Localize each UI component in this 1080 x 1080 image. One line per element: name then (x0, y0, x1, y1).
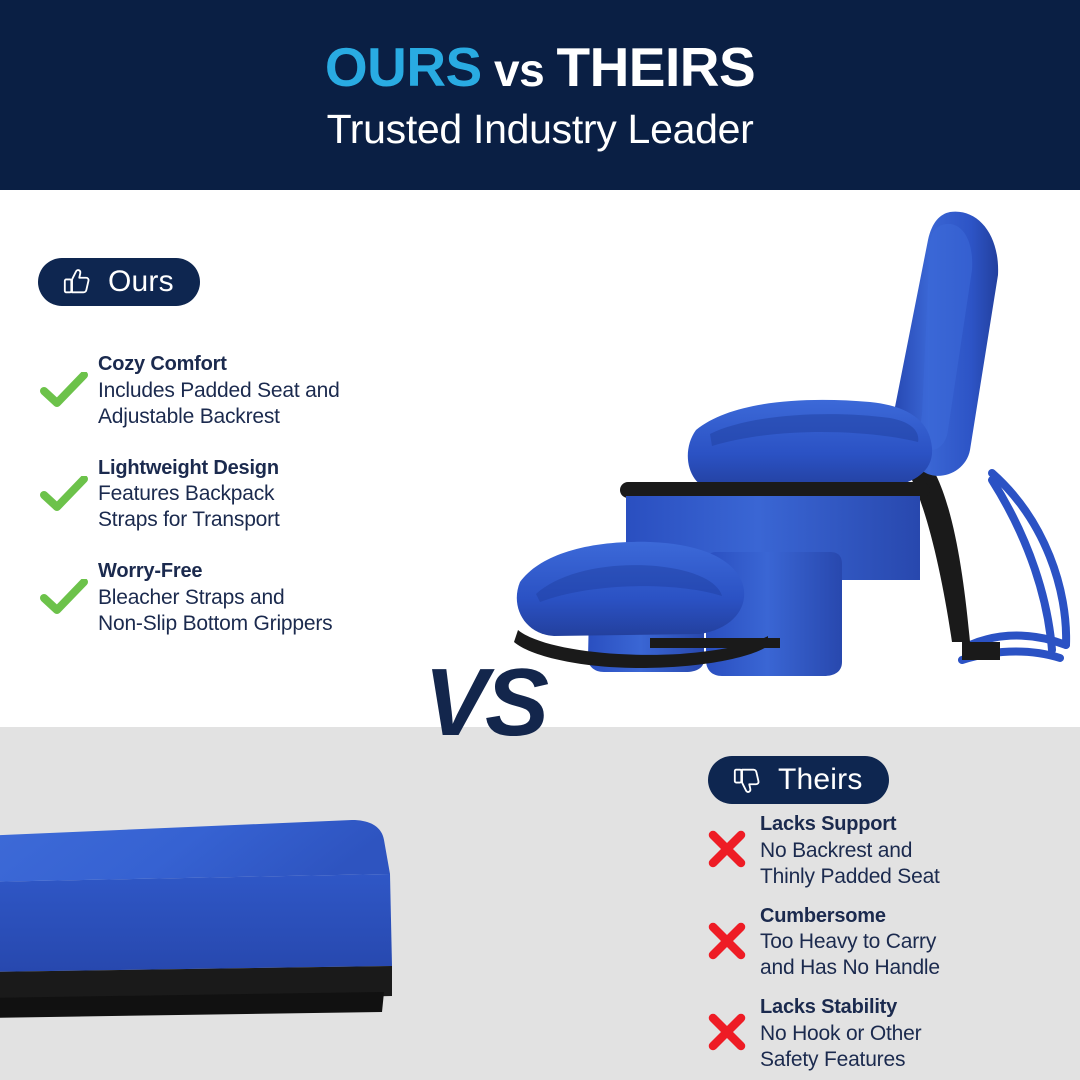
feature-desc-line-1: Includes Padded Seat and (98, 379, 340, 402)
check-icon (36, 476, 92, 514)
feature-desc-line-2: Straps for Transport (98, 508, 280, 531)
list-item: Lacks Support No Backrest and Thinly Pad… (700, 812, 1060, 890)
ours-badge: Ours (38, 258, 200, 306)
title-ours: OURS (325, 36, 482, 98)
feature-title: Lightweight Design (98, 457, 279, 479)
feature-desc-line-1: Bleacher Straps and (98, 586, 284, 609)
chair-base-bar (650, 638, 780, 648)
feature-desc-line-2: and Has No Handle (760, 956, 940, 979)
comparison-infographic: OURS vs THEIRS Trusted Industry Leader (0, 0, 1080, 1080)
theirs-badge: Theirs (708, 756, 889, 804)
thumbs-down-icon (730, 763, 764, 797)
feature-text: Lightweight Design Features Backpack Str… (92, 456, 436, 534)
check-icon (36, 579, 92, 617)
feature-text: Lacks Support No Backrest and Thinly Pad… (754, 812, 1060, 890)
ours-product-image (500, 190, 1080, 690)
ours-badge-label: Ours (108, 267, 174, 297)
page-title: OURS vs THEIRS (325, 40, 755, 95)
chair-upper-cushion (688, 400, 932, 490)
list-item: Worry-Free Bleacher Straps and Non-Slip … (36, 559, 436, 637)
cross-icon (700, 922, 754, 960)
strap-clip (962, 642, 1000, 660)
list-item: Lacks Stability No Hook or Other Safety … (700, 995, 1060, 1073)
theirs-feature-list: Lacks Support No Backrest and Thinly Pad… (700, 812, 1060, 1080)
cross-icon (700, 830, 754, 868)
feature-desc-line-2: Safety Features (760, 1048, 905, 1071)
cushion-front-face (0, 874, 392, 972)
feature-title: Lacks Support (760, 813, 896, 835)
feature-title: Lacks Stability (760, 996, 897, 1018)
theirs-badge-label: Theirs (778, 765, 863, 795)
vs-divider: VS (424, 655, 546, 751)
feature-desc-line-1: Too Heavy to Carry (760, 930, 936, 953)
feature-desc-line-2: Adjustable Backrest (98, 405, 280, 428)
list-item: Cozy Comfort Includes Padded Seat and Ad… (36, 352, 436, 430)
page-subtitle: Trusted Industry Leader (327, 109, 754, 150)
title-vs: vs (482, 44, 557, 96)
feature-desc-line-1: No Backrest and (760, 839, 912, 862)
header-banner: OURS vs THEIRS Trusted Industry Leader (0, 0, 1080, 190)
armrest-bar (620, 482, 930, 498)
feature-text: Worry-Free Bleacher Straps and Non-Slip … (92, 559, 436, 637)
feature-title: Cozy Comfort (98, 353, 227, 375)
feature-text: Lacks Stability No Hook or Other Safety … (754, 995, 1060, 1073)
backpack-strap-icon (962, 473, 1066, 660)
list-item: Lightweight Design Features Backpack Str… (36, 456, 436, 534)
theirs-product-image (0, 790, 440, 1040)
feature-title: Worry-Free (98, 560, 202, 582)
feature-desc-line-2: Thinly Padded Seat (760, 865, 940, 888)
title-theirs: THEIRS (556, 36, 755, 98)
feature-desc-line-2: Non-Slip Bottom Grippers (98, 612, 332, 635)
list-item: Cumbersome Too Heavy to Carry and Has No… (700, 904, 1060, 982)
feature-text: Cumbersome Too Heavy to Carry and Has No… (754, 904, 1060, 982)
check-icon (36, 372, 92, 410)
cushion-top-face (0, 820, 390, 882)
feature-title: Cumbersome (760, 905, 886, 927)
feature-text: Cozy Comfort Includes Padded Seat and Ad… (92, 352, 436, 430)
cross-icon (700, 1013, 754, 1051)
ours-feature-list: Cozy Comfort Includes Padded Seat and Ad… (36, 352, 436, 663)
thumbs-up-icon (60, 265, 94, 299)
feature-desc-line-1: No Hook or Other (760, 1022, 921, 1045)
feature-desc-line-1: Features Backpack (98, 482, 274, 505)
